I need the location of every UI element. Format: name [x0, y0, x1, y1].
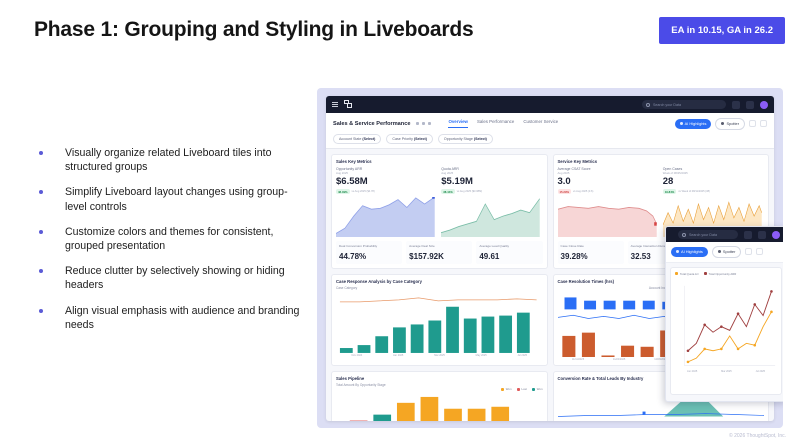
dashboard-screenshot: Search your Data Sales & Service Perform… [317, 88, 783, 428]
mini-kpi-case-close-rate: Case Close Rate 39.28% [558, 241, 624, 264]
spotter-button[interactable]: Spotter [715, 118, 745, 130]
secondary-liveboard-window: Search your Data AI Highlights Spotter T… [665, 226, 783, 402]
search-icon [682, 233, 686, 237]
bullet-text: Simplify Liveboard layout changes using … [65, 186, 288, 212]
spotter-label: Spotter [723, 249, 736, 254]
mini-kpi-label: Average Lead Quality [479, 244, 539, 252]
kpi-quota-arr: Quota ARR Aug 2025 $5.19M 38.44% vs Aug … [441, 167, 542, 238]
secondary-chart-x-labels: Jun 2025 Mar 2025 Jul 2025 [675, 370, 777, 373]
kpi-label: Open Cases [663, 167, 764, 171]
bullet-dot-icon [39, 190, 43, 194]
chart-case-response-analysis: Case Response Analysis by Case Category … [331, 274, 548, 366]
share-icon[interactable] [749, 120, 756, 127]
kpi-label: Opportunity ARR [336, 167, 437, 171]
kpi-period: Aug 2025 [441, 171, 542, 175]
filter-chip-case-priority[interactable]: Case Priority (Select) [386, 134, 433, 144]
chart-plot-pipeline [336, 393, 543, 421]
tab-customer-service[interactable]: Customer Service [523, 119, 558, 128]
kpi-delta: 38.44% [441, 189, 455, 194]
sparkline-quota-arr [441, 197, 542, 237]
spotter-button-secondary[interactable]: Spotter [712, 246, 742, 258]
mini-kpi-value: 44.78% [339, 252, 399, 261]
more-icon[interactable] [428, 122, 431, 125]
kpi-value: $5.19M [441, 176, 542, 188]
list-item: Reduce clutter by selectively showing or… [34, 264, 306, 292]
spotter-icon [718, 250, 721, 253]
kpi-delta-note: vs Aug 2025 ($3.08M) [457, 190, 482, 193]
legend-swatch-icon [704, 272, 707, 275]
chart-plot-teal-bars [336, 292, 543, 353]
kpi-value: 28 [663, 176, 764, 188]
ai-highlights-label: AI Highlights [685, 121, 707, 126]
kpi-delta: 19.84% [663, 189, 677, 194]
filter-chip-account-state[interactable]: Account State (Select) [333, 134, 381, 144]
chart-title: Case Response Analysis by Case Category [336, 279, 543, 284]
mini-kpi-value: $157.92K [409, 252, 469, 261]
ai-highlights-button-secondary[interactable]: AI Highlights [671, 247, 708, 257]
mini-kpi-value: 39.28% [561, 252, 621, 261]
secondary-actions: AI Highlights Spotter [666, 242, 783, 263]
avatar[interactable] [772, 231, 780, 239]
sparkline-opportunity-arr [336, 197, 437, 237]
thoughtspot-logo-icon [344, 100, 353, 109]
legend-swatch-icon [532, 388, 535, 391]
kpi-delta: 15.29% [558, 189, 572, 194]
search-input[interactable]: Search your Data [642, 100, 726, 109]
search-icon [646, 103, 650, 107]
list-item: Align visual emphasis with audience and … [34, 304, 306, 332]
kpi-delta-note: vs Week of 08/11/2025 (38) [678, 190, 710, 193]
kpi-opportunity-arr: Opportunity ARR Aug 2025 $6.58M 48.49% v… [336, 167, 437, 238]
list-item: Simplify Liveboard layout changes using … [34, 185, 306, 213]
app-topbar-secondary: Search your Data [666, 227, 783, 242]
apps-icon[interactable] [744, 231, 752, 239]
list-item: Visually organize related Liveboard tile… [34, 146, 306, 174]
spotter-icon [721, 122, 724, 125]
more-options-icon[interactable] [756, 248, 763, 255]
kpi-delta: 48.49% [336, 189, 350, 194]
filter-chip-opportunity-stage[interactable]: Opportunity Stage (Select) [438, 134, 493, 144]
filter-chips: Account State (Select) Case Priority (Se… [333, 130, 767, 148]
liveboard-tabs: Overview Sales Performance Customer Serv… [448, 119, 558, 128]
info-icon[interactable] [416, 122, 419, 125]
bullet-dot-icon [39, 309, 43, 313]
star-icon[interactable] [422, 122, 425, 125]
ai-highlights-button[interactable]: AI Highlights [675, 119, 712, 129]
liveboard-title-icons [416, 122, 431, 125]
bullet-text: Align visual emphasis with audience and … [65, 305, 299, 331]
legend-swatch-icon [675, 272, 678, 275]
sparkle-icon [676, 250, 679, 253]
tab-overview[interactable]: Overview [448, 119, 468, 128]
kpi-value: 3.0 [558, 176, 659, 188]
search-placeholder: Search your Data [689, 233, 717, 237]
group-sales-key-metrics: Sales Key Metrics Opportunity ARR Aug 20… [331, 154, 548, 270]
list-item: Customize colors and themes for consiste… [34, 225, 306, 253]
liveboard-title: Sales & Service Performance [333, 121, 410, 127]
kpi-delta-note: vs Aug 2025 (3.6) [573, 190, 593, 193]
bullet-text: Customize colors and themes for consiste… [65, 226, 273, 252]
bullet-text: Visually organize related Liveboard tile… [65, 147, 272, 173]
help-icon[interactable] [758, 231, 766, 239]
legend-item: Won [501, 387, 512, 391]
secondary-chart-plot [675, 284, 777, 369]
mini-kpi-deal-conversion: Deal Conversion Probability 44.78% [336, 241, 402, 264]
mini-kpi-avg-lead-quality: Average Lead Quality 49.61 [476, 241, 542, 264]
chart-subtitle: Case Category [336, 286, 543, 290]
kpi-label: Average CSAT Score [558, 167, 659, 171]
bullet-dot-icon [39, 151, 43, 155]
spotter-label: Spotter [726, 121, 739, 126]
legend-item: Total Opportunity ARR [704, 272, 737, 276]
footer-credit: © 2026 ThoughtSpot, Inc. [729, 433, 786, 439]
sparkle-icon [680, 122, 683, 125]
kpi-label: Quota ARR [441, 167, 542, 171]
mini-kpi-value: 49.61 [479, 252, 539, 261]
search-input-secondary[interactable]: Search your Data [678, 230, 738, 239]
avatar[interactable] [760, 101, 768, 109]
share-icon[interactable] [745, 248, 752, 255]
app-topbar: Search your Data [326, 96, 774, 113]
legend-item: Total Quota Arr [675, 272, 699, 276]
legend-swatch-icon [501, 388, 504, 391]
ai-highlights-label: AI Highlights [681, 249, 703, 254]
help-icon[interactable] [746, 101, 754, 109]
chart-legend: Won Lost Won [336, 387, 543, 391]
release-badge: EA in 10.15, GA in 26.2 [659, 17, 785, 44]
chart-sales-pipeline: Sales Pipeline Total Amount By Opportuni… [331, 371, 548, 421]
page-title: Phase 1: Grouping and Styling in Liveboa… [34, 18, 473, 42]
group-title: Service Key Metrics [558, 159, 765, 164]
hamburger-icon[interactable] [332, 102, 338, 107]
kpi-period: Aug 2025 [558, 171, 659, 175]
bullet-list: Visually organize related Liveboard tile… [34, 146, 306, 343]
bullet-text: Reduce clutter by selectively showing or… [65, 265, 285, 291]
liveboard-actions: AI Highlights Spotter [675, 118, 767, 130]
chart-title: Sales Pipeline [336, 376, 543, 381]
more-options-icon[interactable] [760, 120, 767, 127]
legend-item: Won [532, 387, 543, 391]
mini-kpi-label: Case Close Rate [561, 244, 621, 252]
mini-kpi-avg-deal-size: Average Deal Size $157.92K [406, 241, 472, 264]
chart-x-axis-labels: Nov 2024 Jan 2025 Mar 2025 May 2025 Jul … [336, 354, 543, 357]
kpi-delta-note: vs Aug 2025 ($4.78) [352, 190, 375, 193]
apps-icon[interactable] [732, 101, 740, 109]
search-placeholder: Search your Data [653, 103, 681, 107]
mini-kpi-label: Deal Conversion Probability [339, 244, 399, 252]
secondary-chart-legend: Total Quota Arr Total Opportunity ARR [675, 272, 777, 276]
legend-item: Lost [517, 387, 527, 391]
secondary-chart-card: Total Quota Arr Total Opportunity ARR [670, 267, 782, 395]
group-title: Sales Key Metrics [336, 159, 543, 164]
kpi-value: $6.58M [336, 176, 437, 188]
sparkline-csat [558, 197, 659, 237]
mini-kpi-label: Average Deal Size [409, 244, 469, 252]
kpi-average-csat-score: Average CSAT Score Aug 2025 3.0 15.29% v… [558, 167, 659, 238]
kpi-period: Aug 2025 [336, 171, 437, 175]
bullet-dot-icon [39, 269, 43, 273]
tab-sales-performance[interactable]: Sales Performance [477, 119, 514, 128]
legend-swatch-icon [517, 388, 520, 391]
kpi-period: Week of 08/25/2025 [663, 171, 764, 175]
bullet-dot-icon [39, 230, 43, 234]
liveboard-header: Sales & Service Performance Overview Sal… [326, 113, 774, 149]
